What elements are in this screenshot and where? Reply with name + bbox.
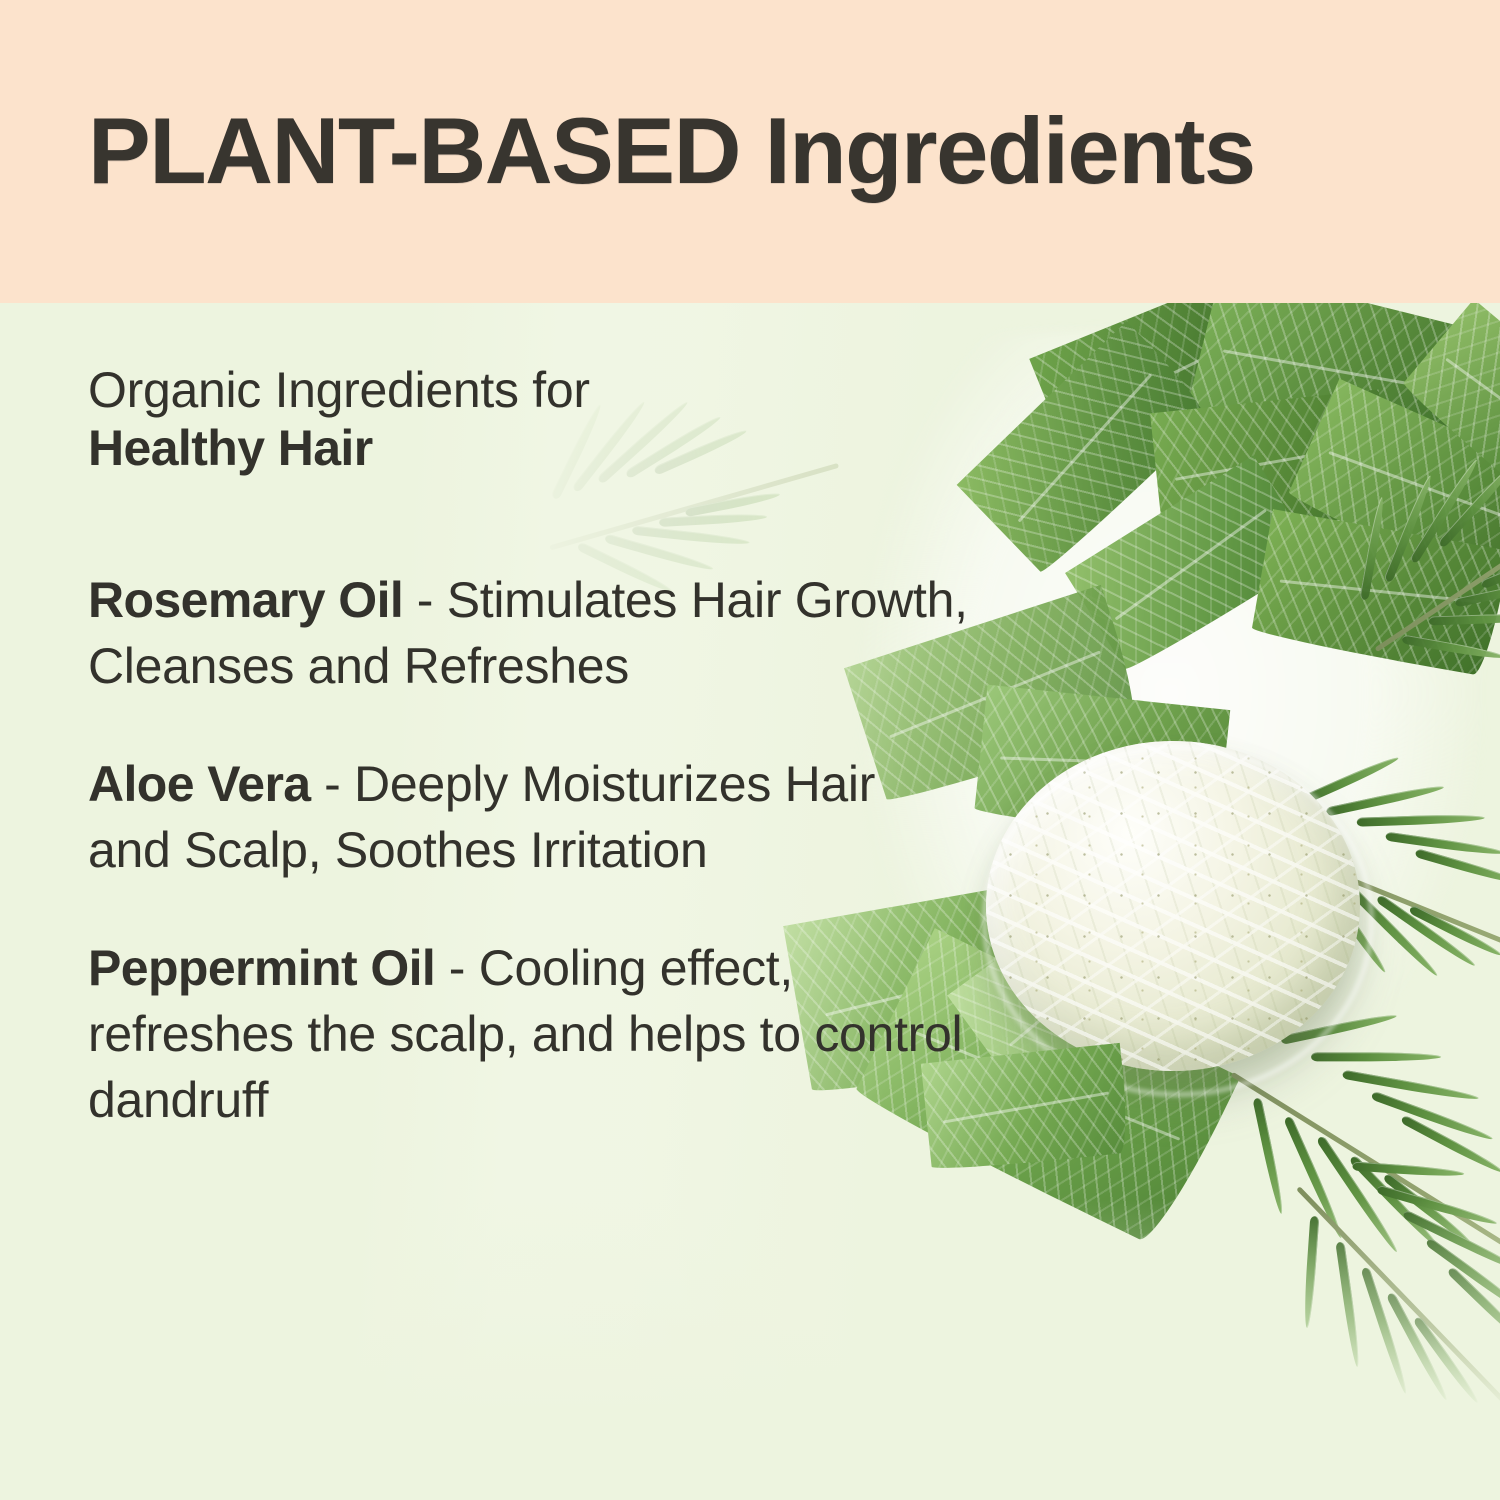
ingredient-name: Rosemary Oil [88,572,403,628]
page-title: PLANT-BASED Ingredients [88,103,1255,199]
body-area: Organic Ingredients for Healthy Hair Ros… [0,303,1500,1500]
lede-text: Organic Ingredients for Healthy Hair [88,361,968,477]
ingredients-infographic: PLANT-BASED Ingredients [0,0,1500,1500]
lede-line-2: Healthy Hair [88,420,373,476]
ingredient-item: Rosemary Oil - Stimulates Hair Growth, C… [88,567,968,699]
header-band: PLANT-BASED Ingredients [0,0,1500,303]
ingredient-item: Aloe Vera - Deeply Moisturizes Hair and … [88,751,968,883]
shampoo-bar [978,741,1378,1101]
ingredient-item: Peppermint Oil - Cooling effect, refresh… [88,935,968,1133]
ingredients-text-column: Organic Ingredients for Healthy Hair Ros… [88,361,968,1133]
ingredient-name: Aloe Vera [88,756,311,812]
ingredient-name: Peppermint Oil [88,940,435,996]
lede-line-1: Organic Ingredients for [88,362,590,418]
